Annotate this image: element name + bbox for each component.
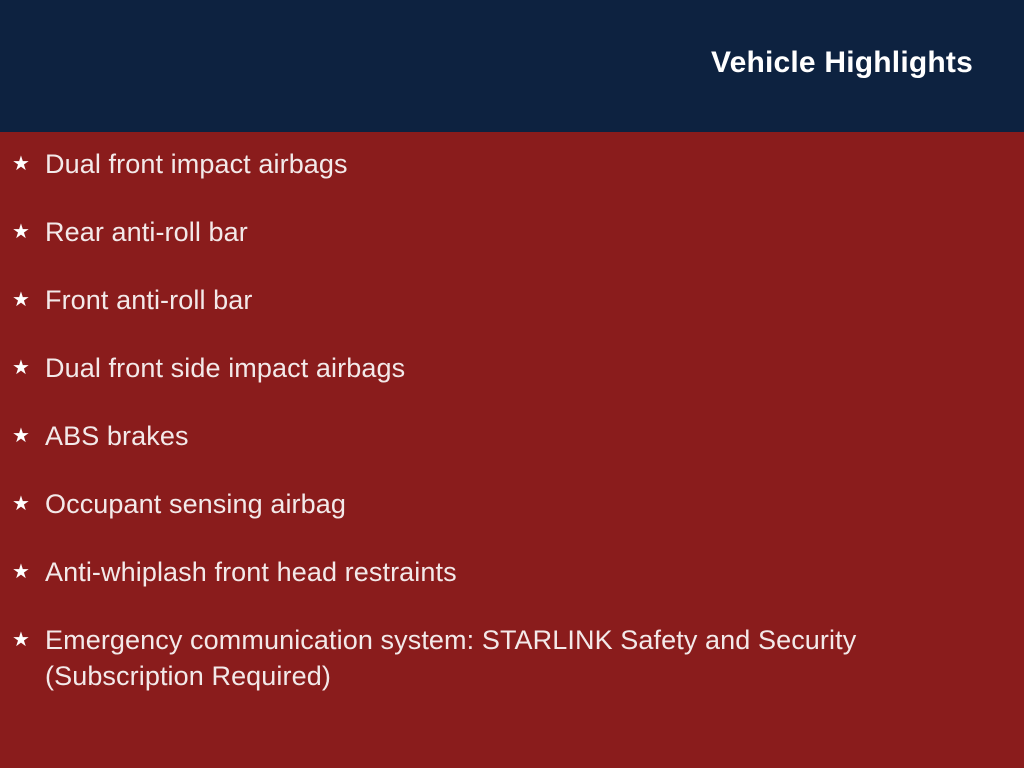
list-item-label: Occupant sensing airbag [45, 486, 984, 522]
list-item: ★ Dual front impact airbags [12, 146, 984, 182]
list-item-label: Front anti-roll bar [45, 282, 984, 318]
list-item: ★ Front anti-roll bar [12, 282, 984, 318]
list-item: ★ Rear anti-roll bar [12, 214, 984, 250]
slide-body: ★ Dual front impact airbags ★ Rear anti-… [0, 132, 1024, 768]
list-item-label: Dual front impact airbags [45, 146, 984, 182]
list-item: ★ Occupant sensing airbag [12, 486, 984, 522]
vehicle-highlights-slide: Vehicle Highlights ★ Dual front impact a… [0, 0, 1024, 768]
list-item-label: Anti-whiplash front head restraints [45, 554, 984, 590]
star-icon: ★ [12, 214, 34, 250]
list-item-label: Emergency communication system: STARLINK… [45, 622, 984, 694]
list-item-label: ABS brakes [45, 418, 984, 454]
star-icon: ★ [12, 282, 34, 318]
star-icon: ★ [12, 622, 34, 658]
star-icon: ★ [12, 146, 34, 182]
list-item-label: Dual front side impact airbags [45, 350, 984, 386]
star-icon: ★ [12, 350, 34, 386]
list-item: ★ Dual front side impact airbags [12, 350, 984, 386]
star-icon: ★ [12, 418, 34, 454]
slide-header-bar: Vehicle Highlights [0, 0, 1024, 132]
list-item: ★ Emergency communication system: STARLI… [12, 622, 984, 694]
list-item: ★ Anti-whiplash front head restraints [12, 554, 984, 590]
list-item-label: Rear anti-roll bar [45, 214, 984, 250]
vehicle-highlights-list: ★ Dual front impact airbags ★ Rear anti-… [12, 146, 984, 694]
list-item: ★ ABS brakes [12, 418, 984, 454]
star-icon: ★ [12, 554, 34, 590]
page-title: Vehicle Highlights [711, 46, 973, 80]
star-icon: ★ [12, 486, 34, 522]
